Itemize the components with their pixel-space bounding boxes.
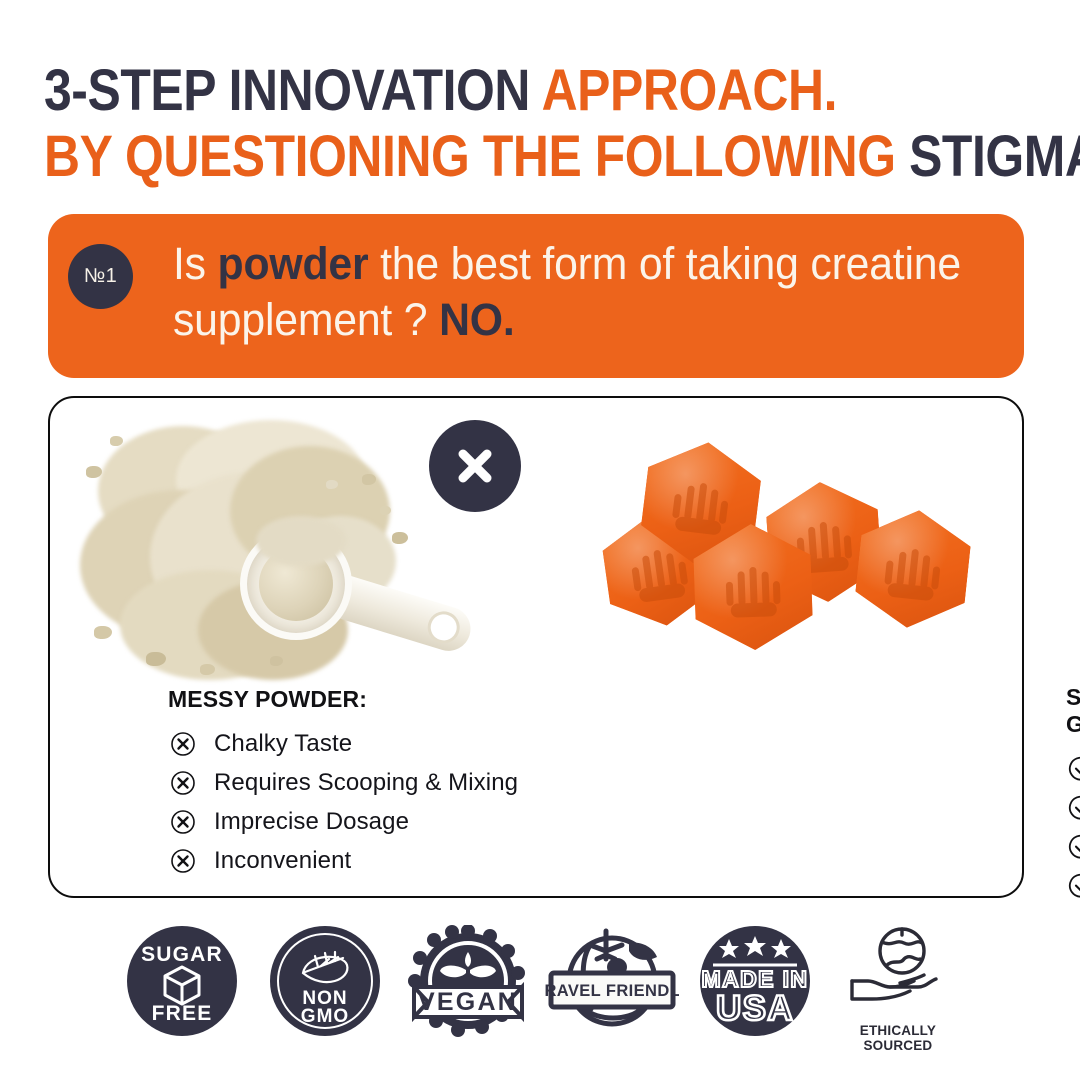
list-item: Hassle-Free	[1066, 788, 1080, 827]
sugar-free-badge: SUGAR FREE	[120, 925, 244, 1055]
x-circle-outline-icon	[168, 729, 198, 759]
x-circle-outline-icon	[168, 768, 198, 798]
question-highlight: powder	[218, 238, 369, 289]
question-part-1: Is	[173, 238, 218, 289]
comparison-column-gummy: SUGAR-FREE GUMMY: Delicious	[536, 398, 1022, 896]
x-circle-outline-icon	[168, 807, 198, 837]
travel-friendly-label: TRAVEL FRIENDLY	[545, 982, 679, 1000]
headline-line-2: BY QUESTIONING THE FOLLOWING STIGMAS:	[44, 124, 904, 190]
list-item-label: Inconvenient	[214, 847, 351, 875]
scoop-handle-hole	[427, 611, 459, 643]
comparison-column-powder: MESSY POWDER: Chalky Taste	[50, 398, 536, 896]
headline-line-2-part-1: BY QUESTIONING THE FOLLOWING	[44, 124, 909, 189]
sugar-free-line-1: SUGAR	[141, 943, 223, 966]
list-item: Requires Scooping & Mixing	[168, 763, 518, 802]
gummy-list-title: SUGAR-FREE GUMMY:	[1066, 684, 1080, 738]
page-title: 3-STEP INNOVATION APPROACH. BY QUESTIONI…	[44, 58, 1044, 190]
gummy-pros-list: SUGAR-FREE GUMMY: Delicious	[1066, 684, 1080, 905]
question-answer: NO.	[439, 294, 514, 345]
stigma-number-badge: №1	[68, 244, 133, 309]
non-gmo-line-2: GMO	[301, 1006, 349, 1027]
comparison-card: MESSY POWDER: Chalky Taste	[48, 396, 1024, 898]
non-gmo-badge: NON GMO	[263, 925, 387, 1055]
list-item: Precise Dosage	[1066, 866, 1080, 905]
list-item-label: Chalky Taste	[214, 730, 352, 758]
sugar-free-gummy-image	[576, 436, 966, 676]
vegan-badge: VEGAN	[406, 925, 530, 1055]
check-circle-outline-icon	[1066, 871, 1080, 901]
check-circle-outline-icon	[1066, 793, 1080, 823]
usa-line: USA	[716, 989, 794, 1028]
list-item-label: Requires Scooping & Mixing	[214, 769, 518, 797]
trust-badge-row: SUGAR FREE	[120, 925, 960, 1055]
travel-friendly-badge: TRAVEL FRIENDLY	[550, 925, 674, 1055]
ethically-sourced-caption: ETHICALLY SOURCED	[833, 1023, 963, 1053]
powder-cons-list: MESSY POWDER: Chalky Taste	[168, 686, 518, 880]
list-item-label: Imprecise Dosage	[214, 808, 409, 836]
check-circle-outline-icon	[1066, 754, 1080, 784]
headline-line-2-part-2: STIGMAS:	[909, 124, 1080, 189]
list-item: Guilt-Free	[1066, 827, 1080, 866]
list-item: Chalky Taste	[168, 724, 518, 763]
check-circle-outline-icon	[1066, 832, 1080, 862]
messy-powder-image	[80, 420, 480, 690]
stigma-question-banner: №1 Is powder the best form of taking cre…	[48, 214, 1024, 378]
list-item: Imprecise Dosage	[168, 802, 518, 841]
ethically-sourced-badge: ETHICALLY SOURCED	[836, 925, 960, 1055]
vegan-label: VEGAN	[418, 988, 518, 1016]
powder-list-title: MESSY POWDER:	[168, 686, 518, 713]
infographic-page: 3-STEP INNOVATION APPROACH. BY QUESTIONI…	[0, 0, 1080, 1080]
list-item: Delicious	[1066, 749, 1080, 788]
x-circle-icon	[429, 420, 521, 512]
sugar-free-line-2: FREE	[152, 1002, 213, 1025]
headline-line-1-part-1: 3-STEP INNOVATION	[44, 58, 542, 123]
headline-line-1-part-2: APPROACH.	[542, 58, 837, 123]
stigma-question-text: Is powder the best form of taking creati…	[173, 236, 962, 348]
headline-line-1: 3-STEP INNOVATION APPROACH.	[44, 58, 904, 124]
list-item: Inconvenient	[168, 841, 518, 880]
made-in-usa-badge: MADE IN USA	[693, 925, 817, 1055]
x-circle-outline-icon	[168, 846, 198, 876]
